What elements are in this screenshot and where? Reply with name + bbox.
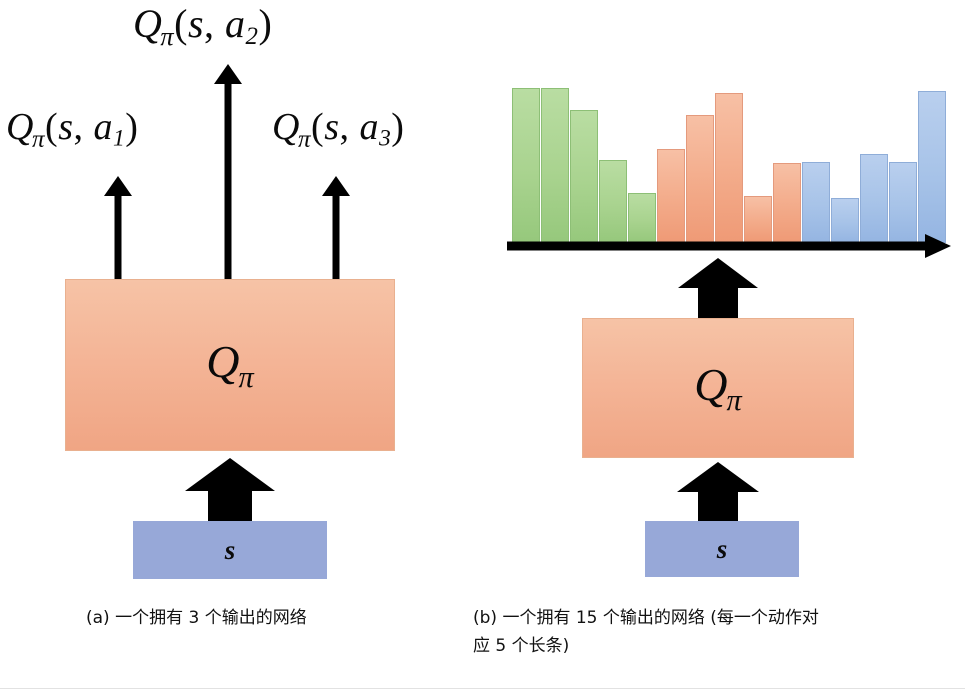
input-box-a-label-text: s bbox=[225, 535, 236, 566]
input-box-b-label-text: s bbox=[717, 534, 728, 565]
output-arrow-b-icon bbox=[676, 258, 760, 320]
caption-a-text: (a) 一个拥有 3 个输出的网络 bbox=[86, 608, 307, 628]
input-box-b[interactable]: s bbox=[645, 521, 799, 577]
chart-bar bbox=[860, 154, 888, 243]
output-label-a2-text: Qπ(s, a2) bbox=[133, 1, 272, 46]
chart-bar bbox=[918, 91, 946, 243]
figure-canvas: Qπ(s, a2) Qπ(s, a1) Qπ(s, a3) Qπ s bbox=[0, 0, 965, 689]
input-arrow-b-icon bbox=[675, 462, 761, 524]
output-label-a1: Qπ(s, a1) bbox=[6, 108, 138, 152]
output-arrow-a2-icon bbox=[210, 64, 246, 286]
output-label-a1-text: Qπ(s, a1) bbox=[6, 106, 138, 148]
input-box-a[interactable]: s bbox=[133, 521, 327, 579]
network-box-b-label-text: Qπ bbox=[694, 358, 741, 417]
output-distribution-chart bbox=[512, 83, 932, 243]
chart-bar bbox=[889, 162, 917, 243]
network-box-a-label: Qπ bbox=[66, 280, 394, 450]
chart-bar bbox=[715, 93, 743, 243]
network-box-b-label: Qπ bbox=[583, 319, 853, 457]
chart-bar bbox=[686, 115, 714, 243]
chart-bar bbox=[773, 163, 801, 243]
chart-bar bbox=[570, 110, 598, 243]
chart-bar bbox=[657, 149, 685, 243]
chart-bar bbox=[599, 160, 627, 243]
chart-bar bbox=[802, 162, 830, 243]
input-box-a-label: s bbox=[134, 522, 326, 578]
caption-b-line2: 应 5 个长条) bbox=[473, 636, 569, 656]
caption-b: (b) 一个拥有 15 个输出的网络 (每一个动作对 应 5 个长条) bbox=[473, 604, 953, 659]
network-box-a[interactable]: Qπ bbox=[65, 279, 395, 451]
output-label-a3-text: Qπ(s, a3) bbox=[272, 106, 404, 148]
network-box-a-label-text: Qπ bbox=[206, 335, 253, 394]
chart-bar bbox=[512, 88, 540, 243]
input-arrow-a-icon bbox=[183, 458, 277, 526]
caption-a: (a) 一个拥有 3 个输出的网络 bbox=[86, 604, 476, 632]
chart-x-axis-icon bbox=[505, 234, 955, 258]
caption-b-line1: (b) 一个拥有 15 个输出的网络 (每一个动作对 bbox=[473, 608, 819, 628]
network-box-b[interactable]: Qπ bbox=[582, 318, 854, 458]
output-label-a2: Qπ(s, a2) bbox=[133, 4, 272, 50]
output-arrow-a3-icon bbox=[318, 176, 354, 286]
input-box-b-label: s bbox=[646, 522, 798, 576]
output-label-a3: Qπ(s, a3) bbox=[272, 108, 404, 152]
output-arrow-a1-icon bbox=[100, 176, 136, 286]
chart-bar bbox=[541, 88, 569, 243]
